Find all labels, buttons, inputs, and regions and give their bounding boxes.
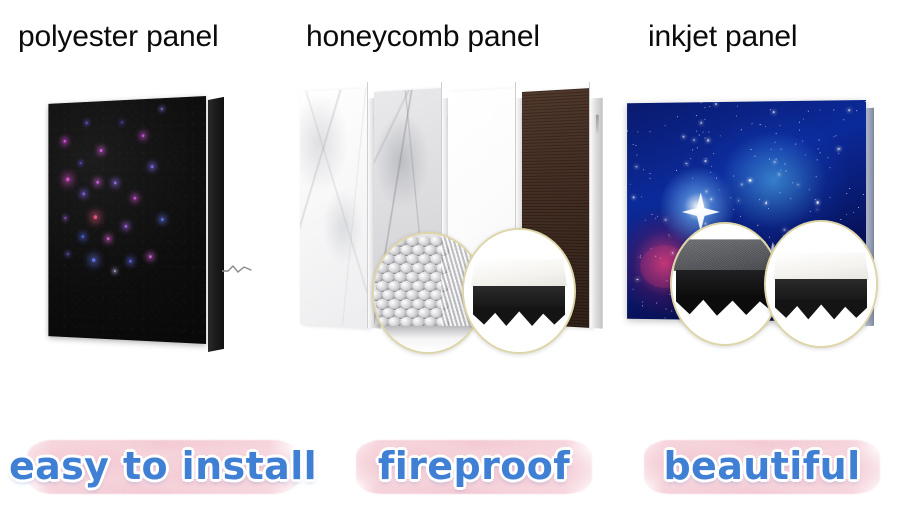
star-dot (82, 235, 85, 238)
callout-honeycomb-cross-section (462, 228, 576, 354)
cross-section-zigzag (473, 307, 565, 329)
column-honeycomb (290, 78, 600, 408)
product-comparison-board: polyester panel honeycomb panel inkjet p… (0, 0, 900, 532)
galaxy-star (657, 319, 658, 320)
caption-label: beautiful (663, 444, 860, 488)
caption-label: fireproof (378, 444, 570, 488)
felt-texture (48, 96, 206, 344)
star-dot (67, 253, 69, 255)
star-dot (82, 192, 85, 195)
cross-section-top-layer (773, 252, 869, 280)
cross-section-diagram (766, 222, 876, 346)
heading-inkjet-panel: inkjet panel (648, 20, 797, 54)
felt-cross-section-diagram (672, 224, 778, 344)
caption-fireproof: fireproof (340, 426, 608, 506)
heading-polyester-panel: polyester panel (18, 20, 218, 54)
felt-top-layer (674, 239, 776, 270)
star-dot (96, 181, 99, 184)
heading-honeycomb-panel: honeycomb panel (306, 20, 540, 54)
column-inkjet (600, 78, 900, 408)
slab-edge-pin (596, 115, 599, 134)
finish-white-marble (300, 88, 370, 328)
caption-beautiful: beautiful (628, 426, 896, 506)
cross-section-diagram (464, 230, 574, 352)
star-dot (161, 218, 164, 221)
cross-section-zigzag (775, 300, 867, 322)
star-panel-face (48, 96, 206, 344)
star-dot (134, 197, 137, 200)
slab-white-marble (300, 88, 370, 328)
honeycomb-panel-image (296, 92, 596, 354)
star-dot (80, 162, 82, 164)
panel-side-edge (208, 97, 224, 352)
column-polyester (0, 78, 290, 408)
star-dot (64, 217, 66, 219)
star-dot (114, 181, 117, 184)
captions-row: easy to install fireproof beautiful (0, 408, 900, 532)
star-dot (129, 260, 132, 263)
star-dot (149, 255, 152, 258)
star-dot (121, 121, 123, 123)
power-cable-icon (222, 264, 252, 276)
caption-label: easy to install (9, 444, 317, 488)
star-dot (125, 225, 128, 228)
star-dot (100, 149, 103, 152)
headings-row: polyester panel honeycomb panel inkjet p… (0, 0, 900, 78)
caption-easy-to-install: easy to install (8, 426, 318, 506)
star-dot (151, 165, 154, 168)
star-dot (94, 215, 97, 219)
callout-inkjet-cross-section (764, 220, 878, 348)
cross-section-top-layer (471, 260, 567, 287)
star-dot (86, 122, 88, 124)
star-dot (107, 237, 110, 240)
star-dot (114, 270, 116, 272)
star-dot (66, 177, 69, 181)
polyester-panel-image (30, 96, 230, 346)
product-columns (0, 78, 900, 408)
felt-zigzag (676, 295, 774, 319)
inkjet-panel-image (618, 100, 876, 332)
star-dot (92, 258, 95, 262)
